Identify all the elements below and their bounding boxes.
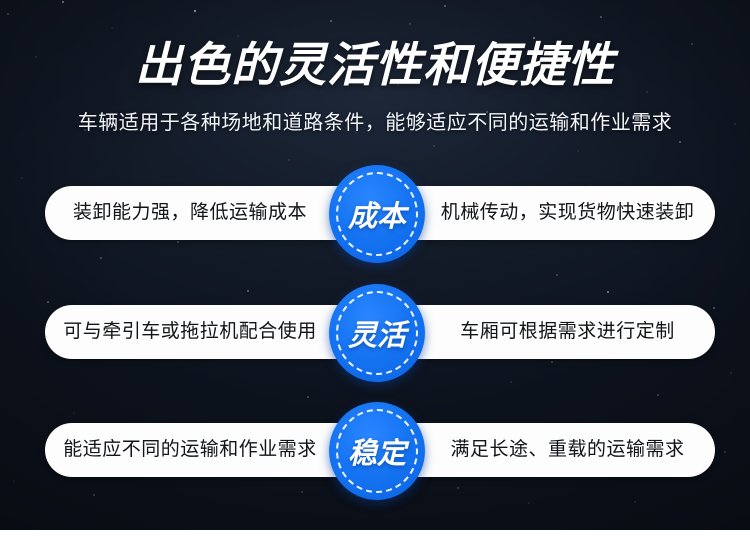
feature-badge: 成本 (329, 165, 425, 263)
feature-row: 能适应不同的运输和作业需求 满足长途、重载的运输需求 稳定 (0, 397, 750, 507)
feature-badge: 稳定 (329, 402, 425, 500)
page-title: 出色的灵活性和便捷性 (0, 36, 750, 94)
feature-badge-label: 稳定 (329, 402, 425, 500)
page-subtitle: 车辆适用于各种场地和道路条件，能够适应不同的运输和作业需求 (0, 108, 750, 138)
feature-badge: 灵活 (329, 284, 425, 382)
feature-row: 装卸能力强，降低运输成本 机械传动，实现货物快速装卸 成本 (0, 160, 750, 270)
promo-poster: 出色的灵活性和便捷性 车辆适用于各种场地和道路条件，能够适应不同的运输和作业需求… (0, 0, 750, 543)
feature-badge-label: 成本 (329, 165, 425, 263)
feature-left-text: 可与牵引车或拖拉机配合使用 (45, 305, 335, 359)
bottom-white-strip (0, 530, 750, 543)
feature-badge-label: 灵活 (329, 284, 425, 382)
feature-row: 可与牵引车或拖拉机配合使用 车厢可根据需求进行定制 灵活 (0, 279, 750, 389)
feature-right-text: 机械传动，实现货物快速装卸 (420, 186, 715, 240)
feature-left-text: 装卸能力强，降低运输成本 (45, 186, 335, 240)
feature-left-text: 能适应不同的运输和作业需求 (45, 423, 335, 477)
feature-right-text: 车厢可根据需求进行定制 (420, 305, 715, 359)
feature-right-text: 满足长途、重载的运输需求 (420, 423, 715, 477)
